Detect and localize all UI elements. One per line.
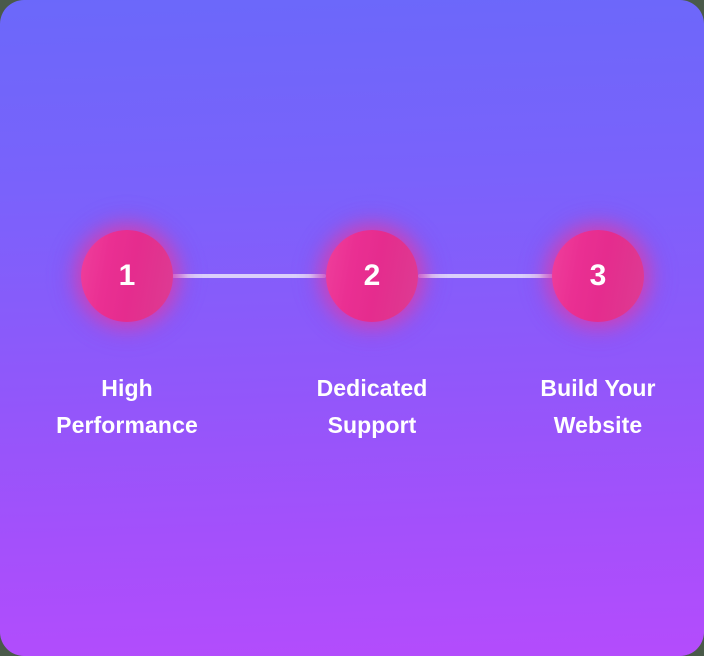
step-badge-1[interactable]: 1	[75, 224, 179, 328]
step-item-2[interactable]: 2 Dedicated Support	[272, 224, 472, 444]
step-item-3[interactable]: 3 Build Your Website	[498, 224, 698, 444]
step-badge-2[interactable]: 2	[320, 224, 424, 328]
step-number-2: 2	[364, 261, 381, 291]
process-steps-card: 1 High Performance 2 Dedicated Support	[0, 0, 704, 656]
step-badge-3[interactable]: 3	[546, 224, 650, 328]
step-circle-3[interactable]: 3	[552, 230, 644, 322]
step-label-1: High Performance	[27, 370, 227, 444]
step-number-3: 3	[590, 261, 607, 291]
steps-container: 1 High Performance 2 Dedicated Support	[0, 0, 704, 656]
step-circle-1[interactable]: 1	[81, 230, 173, 322]
step-item-1[interactable]: 1 High Performance	[27, 224, 227, 444]
step-label-2: Dedicated Support	[272, 370, 472, 444]
step-number-1: 1	[119, 261, 136, 291]
step-label-3: Build Your Website	[498, 370, 698, 444]
step-circle-2[interactable]: 2	[326, 230, 418, 322]
